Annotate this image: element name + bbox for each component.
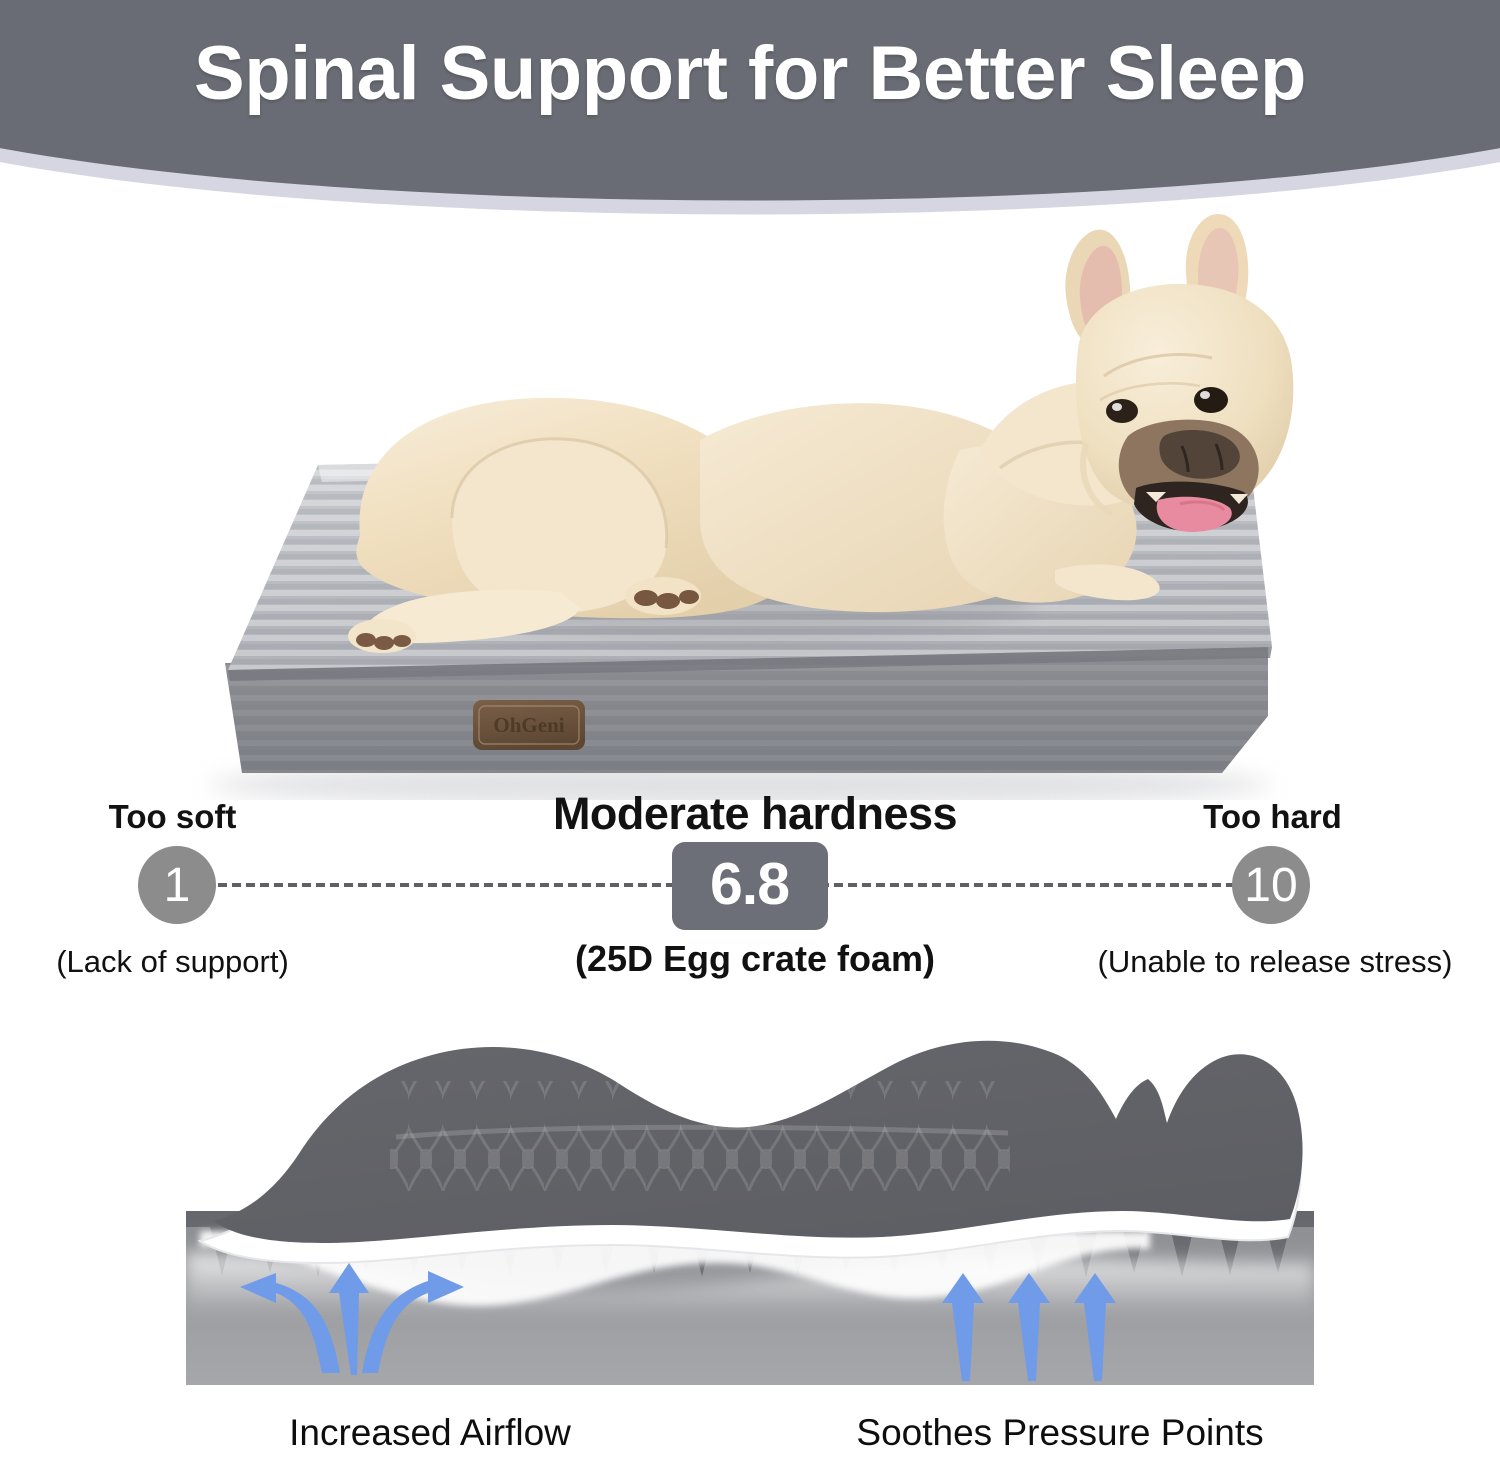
brand-label-text: OhGeni (493, 713, 564, 737)
page-title: Spinal Support for Better Sleep (0, 30, 1500, 117)
scale-label-right: Too hard (1180, 798, 1365, 836)
scale-value-max: 10 (1232, 858, 1310, 913)
scale-label-center: Moderate hardness (500, 788, 1010, 840)
spine-vertebrae-pattern (390, 1081, 1010, 1191)
product-photo: OhGeni (0, 200, 1500, 800)
cross-section-diagram (0, 1015, 1500, 1385)
scale-sublabel-left: (Lack of support) (20, 944, 325, 980)
dog-front-paw (348, 619, 416, 653)
caption-airflow: Increased Airflow (180, 1412, 680, 1454)
scale-label-left: Too soft (80, 798, 265, 836)
dog-silhouette (200, 1041, 1303, 1263)
foam-cross-section-graphic (0, 1015, 1500, 1385)
caption-pressure: Soothes Pressure Points (760, 1412, 1360, 1454)
dog-on-bed-illustration: OhGeni (0, 200, 1500, 800)
dog-figure (348, 214, 1293, 653)
hardness-scale: Too soft Moderate hardness Too hard 1 6.… (0, 792, 1500, 1002)
dog-hind-paw (625, 577, 701, 615)
dog-eye-left (1106, 399, 1138, 423)
silhouette-spine (390, 1081, 1010, 1191)
brand-label: OhGeni (473, 700, 585, 750)
scale-sublabel-center: (25D Egg crate foam) (480, 938, 1030, 980)
scale-sublabel-right: (Unable to release stress) (1055, 944, 1495, 980)
scale-value-min: 1 (138, 858, 216, 913)
dog-eye-right (1194, 387, 1228, 413)
scale-value-rating: 6.8 (672, 850, 827, 918)
infographic-page: Spinal Support for Better Sleep (0, 0, 1500, 1472)
